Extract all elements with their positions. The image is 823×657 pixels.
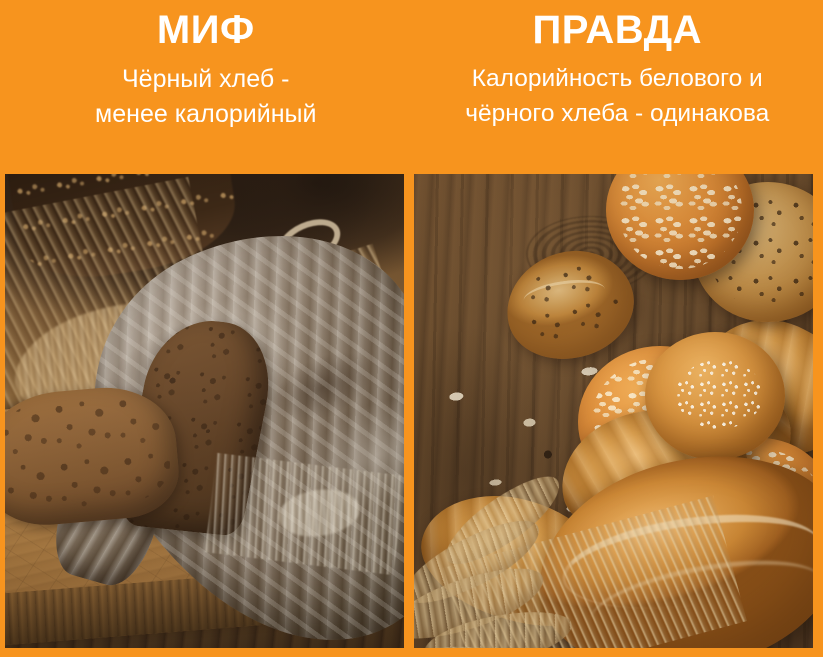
rye-slice-crumb	[5, 382, 182, 531]
wheat-bundle	[414, 411, 692, 648]
panel-subtitle-truth: Калорийность белового и чёрного хлеба - …	[465, 62, 769, 132]
myth-vs-truth-infographic: МИФ Чёрный хлеб - менее калорийный ПРАВД…	[0, 0, 823, 657]
panel-header-truth: ПРАВДА Калорийность белового и чёрного х…	[412, 0, 823, 174]
panel-heading-truth: ПРАВДА	[532, 8, 702, 53]
photo-rye-bread	[5, 174, 404, 648]
panel-subtitle-myth: Чёрный хлеб - менее калорийный	[95, 62, 316, 133]
headings-row: МИФ Чёрный хлеб - менее калорийный ПРАВД…	[0, 0, 823, 174]
panel-header-myth: МИФ Чёрный хлеб - менее калорийный	[0, 0, 412, 174]
panel-heading-myth: МИФ	[157, 8, 255, 53]
roll-score-mark	[522, 275, 607, 314]
photo-white-bread	[414, 174, 813, 648]
photos-row	[0, 174, 823, 657]
